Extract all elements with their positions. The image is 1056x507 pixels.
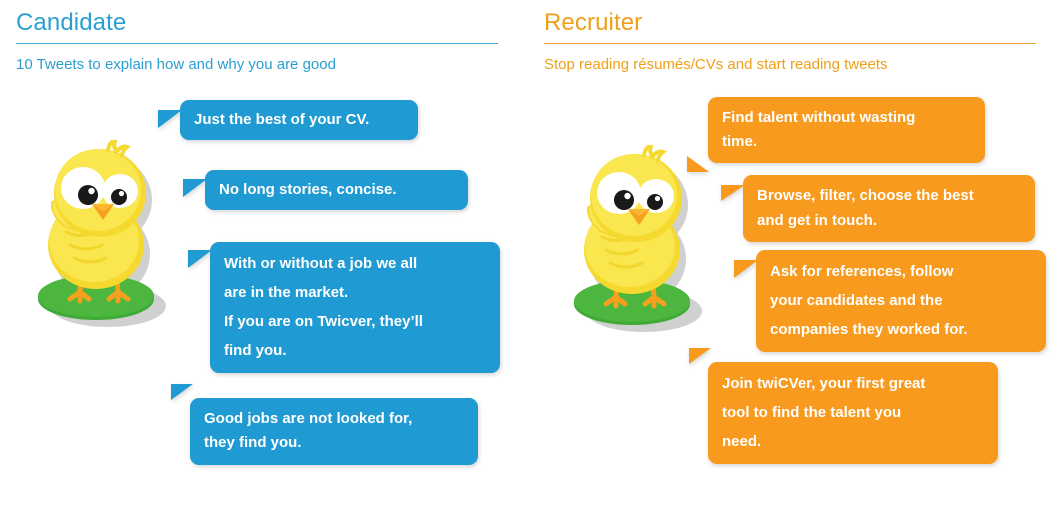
bubble-line: With or without a job we all	[224, 249, 486, 278]
bubble-tail-icon	[689, 348, 711, 364]
recruiter-bubble-2: Browse, filter, choose the best and get …	[743, 175, 1035, 242]
bubble-tail-icon	[158, 110, 182, 128]
bubble-tail-icon	[171, 384, 193, 400]
recruiter-title: Recruiter	[544, 8, 642, 38]
recruiter-title-rule	[544, 43, 1036, 44]
bubble-line: Browse, filter, choose the best	[757, 183, 1021, 208]
bubble-line: If you are on Twicver, they’ll	[224, 307, 486, 336]
bubble-line: your candidates and the	[770, 286, 1032, 315]
bubble-line: are in the market.	[224, 278, 486, 307]
candidate-column: Candidate 10 Tweets to explain how and w…	[0, 0, 528, 507]
bubble-line: and get in touch.	[757, 208, 1021, 233]
bubble-line: Find talent without wasting	[722, 106, 971, 130]
bubble-line: companies they worked for.	[770, 315, 1032, 344]
candidate-subtitle: 10 Tweets to explain how and why you are…	[16, 54, 336, 75]
candidate-bubble-1: Just the best of your CV.	[180, 100, 418, 140]
bubble-line: need.	[722, 427, 984, 456]
bubble-tail-icon	[188, 250, 212, 268]
recruiter-bubble-1: Find talent without wasting time.	[708, 97, 985, 163]
chick-icon	[20, 140, 180, 335]
bubble-line: Good jobs are not looked for,	[204, 407, 464, 431]
candidate-bubble-3: With or without a job we all are in the …	[210, 242, 500, 373]
bubble-tail-icon	[721, 185, 745, 201]
bubble-line: find you.	[224, 336, 486, 365]
bubble-line: Just the best of your CV.	[194, 107, 404, 132]
recruiter-bubble-3: Ask for references, follow your candidat…	[756, 250, 1046, 352]
twicver-comparison-slide: Candidate 10 Tweets to explain how and w…	[0, 0, 1056, 507]
recruiter-column: Recruiter Stop reading résumés/CVs and s…	[528, 0, 1056, 507]
bubble-line: Ask for references, follow	[770, 257, 1032, 286]
bubble-line: they find you.	[204, 431, 464, 455]
bubble-line: tool to find the talent you	[722, 398, 984, 427]
bubble-line: No long stories, concise.	[219, 177, 454, 202]
candidate-title-rule	[16, 43, 498, 44]
bubble-line: time.	[722, 130, 971, 154]
candidate-bubble-2: No long stories, concise.	[205, 170, 468, 210]
bubble-tail-icon	[183, 179, 207, 197]
bubble-tail-icon	[734, 260, 758, 278]
recruiter-bubble-4: Join twiCVer, your first great tool to f…	[708, 362, 998, 464]
candidate-bubble-4: Good jobs are not looked for, they find …	[190, 398, 478, 465]
recruiter-subtitle: Stop reading résumés/CVs and start readi…	[544, 54, 888, 75]
bubble-line: Join twiCVer, your first great	[722, 369, 984, 398]
candidate-title: Candidate	[16, 8, 126, 38]
bubble-tail-icon	[687, 156, 709, 172]
chick-icon	[556, 145, 716, 340]
